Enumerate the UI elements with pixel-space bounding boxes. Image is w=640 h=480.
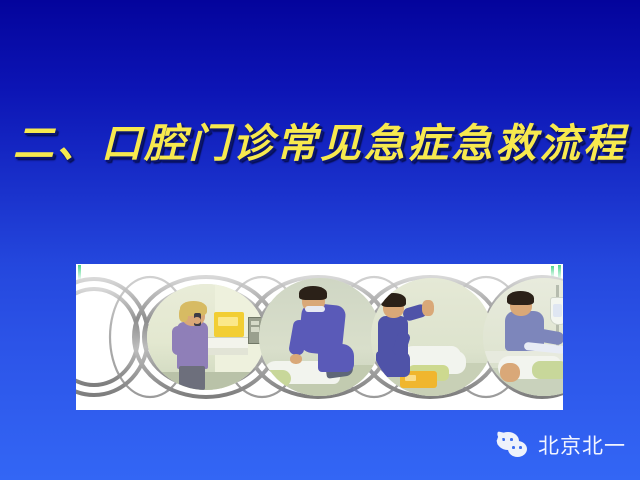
scene-chest-compression: [259, 278, 381, 396]
wechat-watermark: 北京北一: [497, 430, 626, 460]
scene-iv-treatment: [483, 278, 563, 396]
scene-assess-patient: [371, 278, 493, 396]
title-block: 二、口腔门诊常见急症急救流程: [0, 124, 640, 164]
scene-call-emergency: [147, 284, 265, 390]
illustration-panel: [76, 264, 563, 410]
page-title: 二、口腔门诊常见急症急救流程: [13, 124, 627, 164]
watermark-label: 北京北一: [538, 430, 626, 460]
wechat-icon: [497, 432, 531, 458]
slide-canvas: 二、口腔门诊常见急症急救流程: [0, 0, 640, 480]
